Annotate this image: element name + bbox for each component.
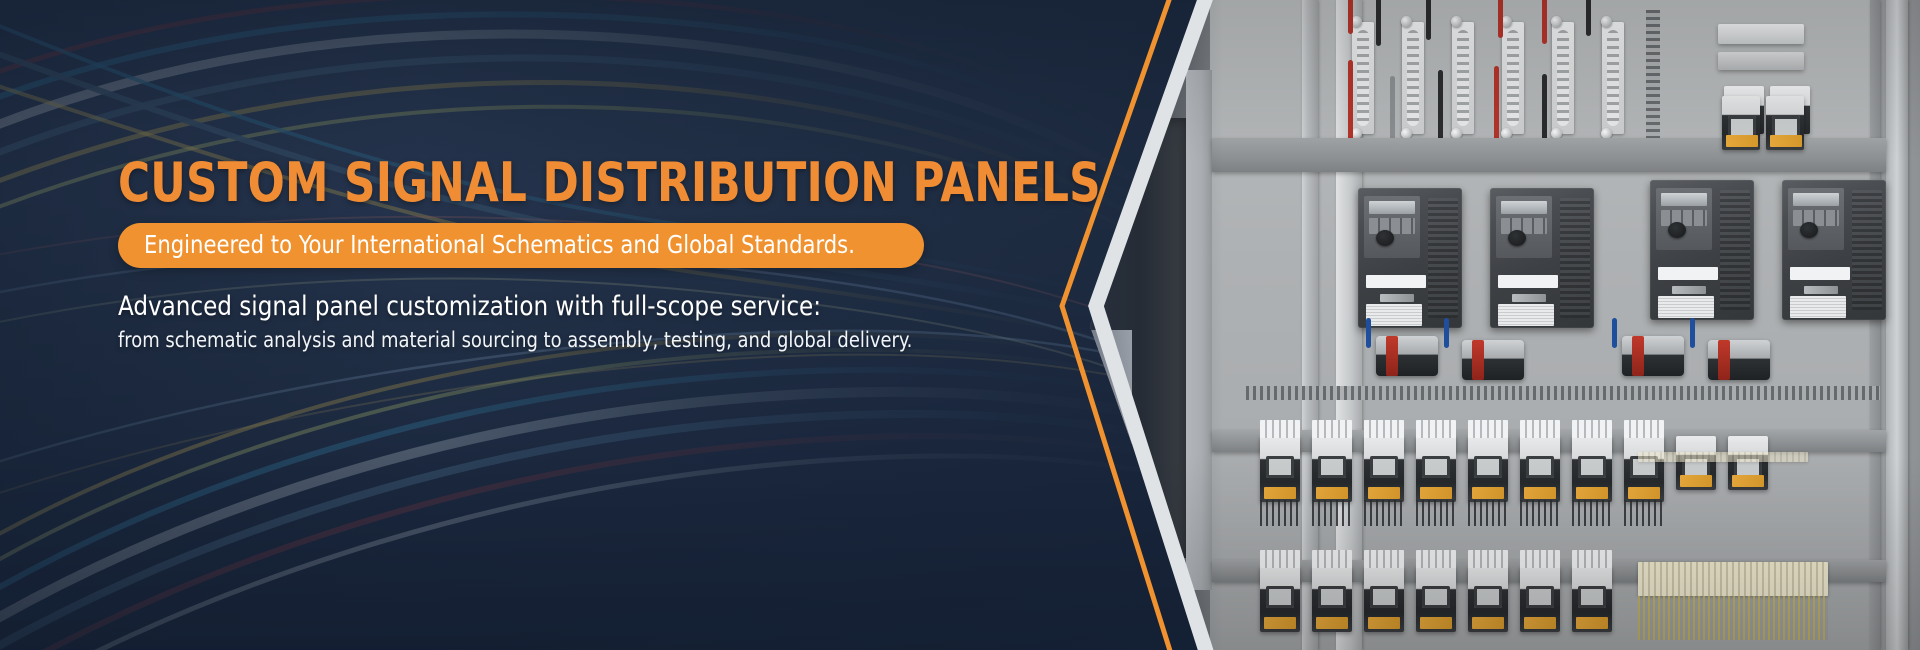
lead-paragraph-line2: from schematic analysis and material sou… — [118, 328, 973, 352]
control-panel-photo — [1090, 0, 1920, 650]
hero-copy: CUSTOM SIGNAL DISTRIBUTION PANELS Engine… — [118, 155, 1018, 352]
tagline-text: Engineered to Your International Schemat… — [144, 232, 855, 257]
photo-shading-overlay — [1090, 0, 1920, 650]
lead-paragraph-line1: Advanced signal panel customization with… — [118, 292, 973, 322]
page-title: CUSTOM SIGNAL DISTRIBUTION PANELS — [118, 155, 928, 210]
tagline-pill: Engineered to Your International Schemat… — [118, 223, 924, 268]
hero-banner: CUSTOM SIGNAL DISTRIBUTION PANELS Engine… — [0, 0, 1920, 650]
control-panel-photo-inner — [1090, 0, 1920, 650]
